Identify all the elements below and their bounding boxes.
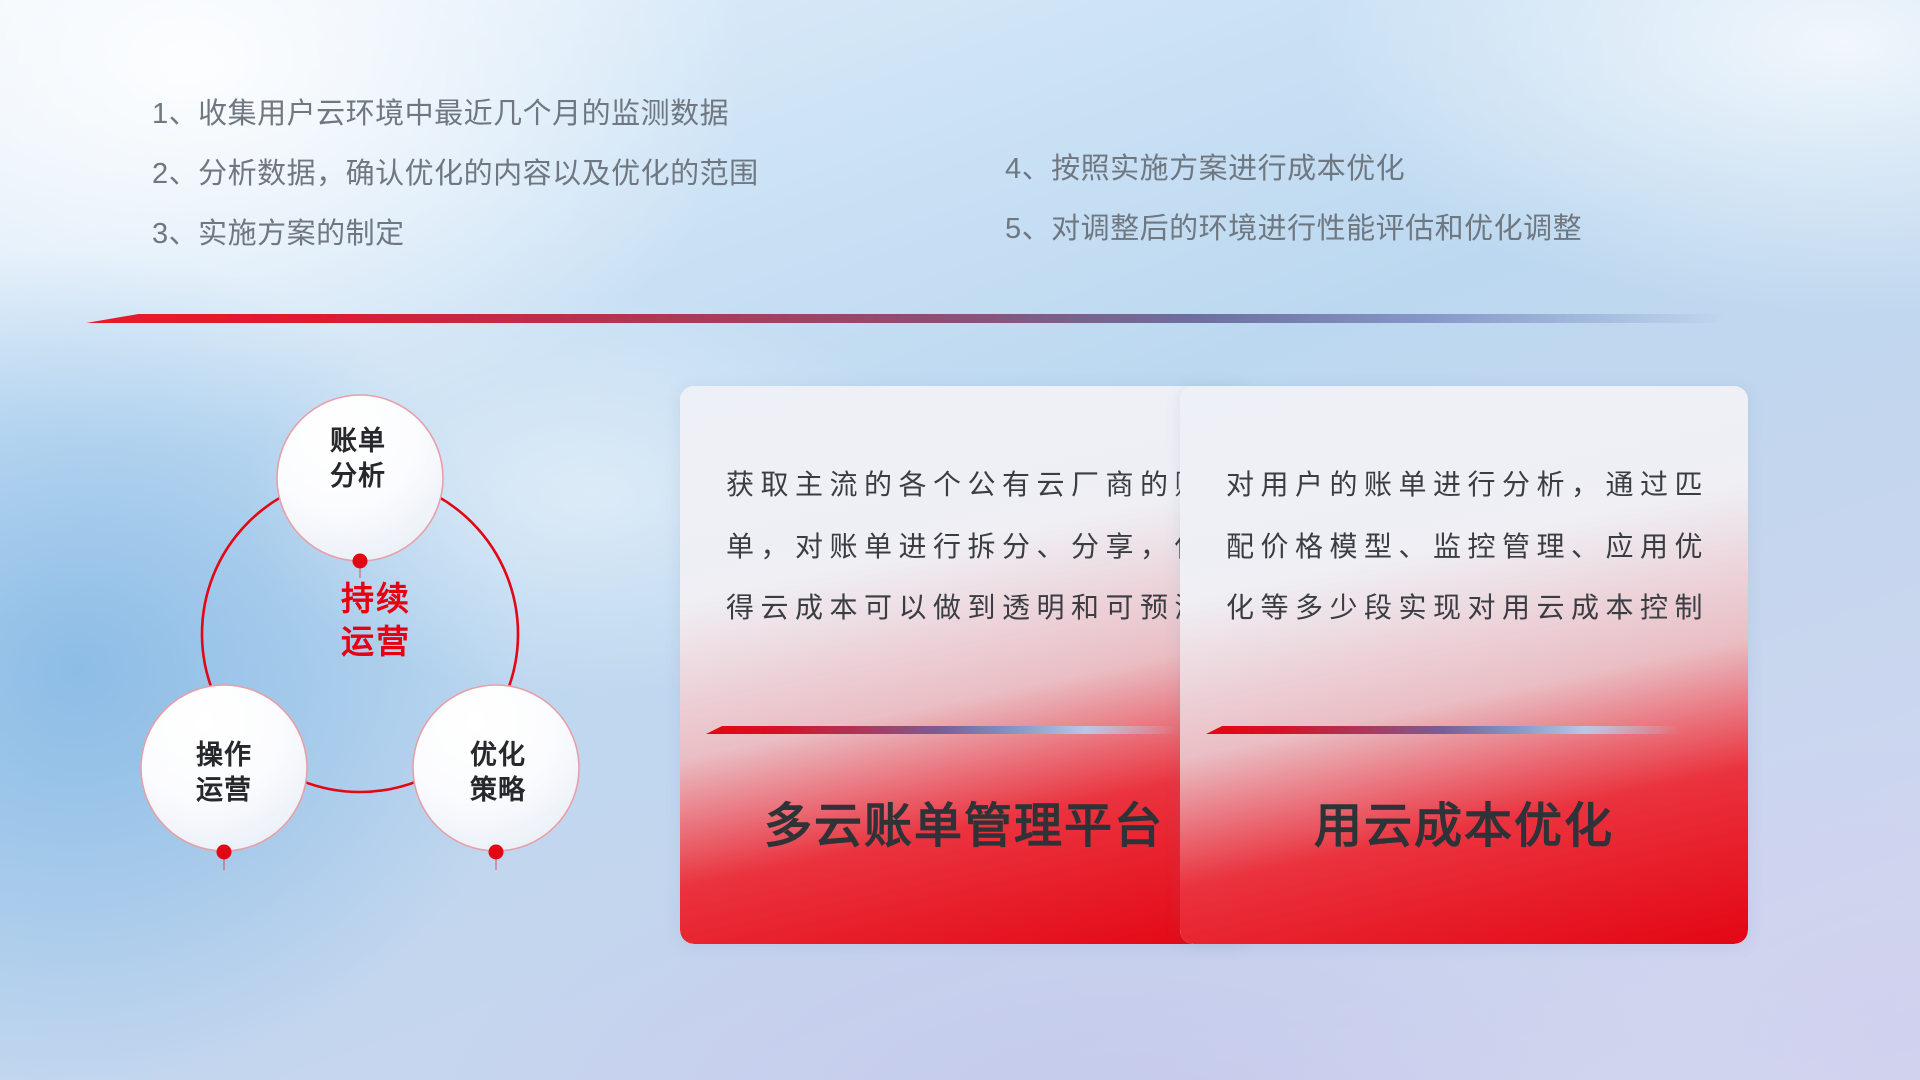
card-multi-cloud-billing-platform[interactable]: 获取主流的各个公有云厂商的账 单，对账单进行拆分、分享，使 得云成本可以做到透明… xyxy=(680,386,1248,944)
step-number: 5、 xyxy=(1005,215,1051,244)
label-line-2: 分析 xyxy=(268,459,448,494)
step-item-5: 5、对调整后的环境进行性能评估和优化调整 xyxy=(1005,215,1582,244)
step-number: 1、 xyxy=(152,100,198,129)
steps-left-column: 1、收集用户云环境中最近几个月的监测数据 2、分析数据，确认优化的内容以及优化的… xyxy=(152,100,759,280)
diagram-label-bill-analysis: 账单 分析 xyxy=(268,424,448,493)
label-line-2: 策略 xyxy=(408,773,588,808)
card-body-line: 获取主流的各个公有云厂商的账 xyxy=(726,454,1204,516)
card-title: 多云账单管理平台 xyxy=(680,786,1248,856)
label-line-1: 账单 xyxy=(268,424,448,459)
step-item-3: 3、实施方案的制定 xyxy=(152,220,759,249)
step-text: 对调整后的环境进行性能评估和优化调整 xyxy=(1051,213,1582,245)
steps-right-column: 4、按照实施方案进行成本优化 5、对调整后的环境进行性能评估和优化调整 xyxy=(1005,155,1582,275)
step-number: 3、 xyxy=(152,220,198,249)
card-divider-line xyxy=(706,726,1180,734)
card-divider-line xyxy=(1206,726,1680,734)
section-divider-line xyxy=(86,314,1726,323)
step-item-1: 1、收集用户云环境中最近几个月的监测数据 xyxy=(152,100,759,129)
diagram-label-operations: 操作 运营 xyxy=(134,738,314,807)
card-body-line: 化等多少段实现对用云成本控制 xyxy=(1226,577,1704,639)
card-title: 用云成本优化 xyxy=(1180,786,1748,856)
card-body-line: 对用户的账单进行分析，通过匹 xyxy=(1226,454,1704,516)
card-body-line: 得云成本可以做到透明和可预测 xyxy=(726,577,1204,639)
step-text: 按照实施方案进行成本优化 xyxy=(1051,153,1405,185)
card-body-line: 配价格模型、监控管理、应用优 xyxy=(1226,516,1704,578)
card-cloud-cost-optimization[interactable]: 对用户的账单进行分析，通过匹 配价格模型、监控管理、应用优 化等多少段实现对用云… xyxy=(1180,386,1748,944)
slide-canvas: 1、收集用户云环境中最近几个月的监测数据 2、分析数据，确认优化的内容以及优化的… xyxy=(0,0,1920,1080)
label-line-1: 操作 xyxy=(134,738,314,773)
center-line-1: 持续 xyxy=(281,578,471,621)
diagram-center-label: 持续 运营 xyxy=(281,578,471,664)
label-line-1: 优化 xyxy=(408,738,588,773)
step-number: 4、 xyxy=(1005,155,1051,184)
diagram-label-optimization-strategy: 优化 策略 xyxy=(408,738,588,807)
card-body-line: 单，对账单进行拆分、分享，使 xyxy=(726,516,1204,578)
step-text: 实施方案的制定 xyxy=(198,218,405,250)
continuous-operation-diagram: 账单 分析 操作 运营 优化 策略 持续 运营 xyxy=(96,356,656,936)
step-item-4: 4、按照实施方案进行成本优化 xyxy=(1005,155,1582,184)
label-line-2: 运营 xyxy=(134,773,314,808)
step-text: 收集用户云环境中最近几个月的监测数据 xyxy=(198,98,729,130)
center-line-2: 运营 xyxy=(281,621,471,664)
step-item-2: 2、分析数据，确认优化的内容以及优化的范围 xyxy=(152,160,759,189)
card-body-text: 对用户的账单进行分析，通过匹 配价格模型、监控管理、应用优 化等多少段实现对用云… xyxy=(1226,454,1704,639)
card-body-text: 获取主流的各个公有云厂商的账 单，对账单进行拆分、分享，使 得云成本可以做到透明… xyxy=(726,454,1204,639)
step-text: 分析数据，确认优化的内容以及优化的范围 xyxy=(198,158,759,190)
step-number: 2、 xyxy=(152,160,198,189)
